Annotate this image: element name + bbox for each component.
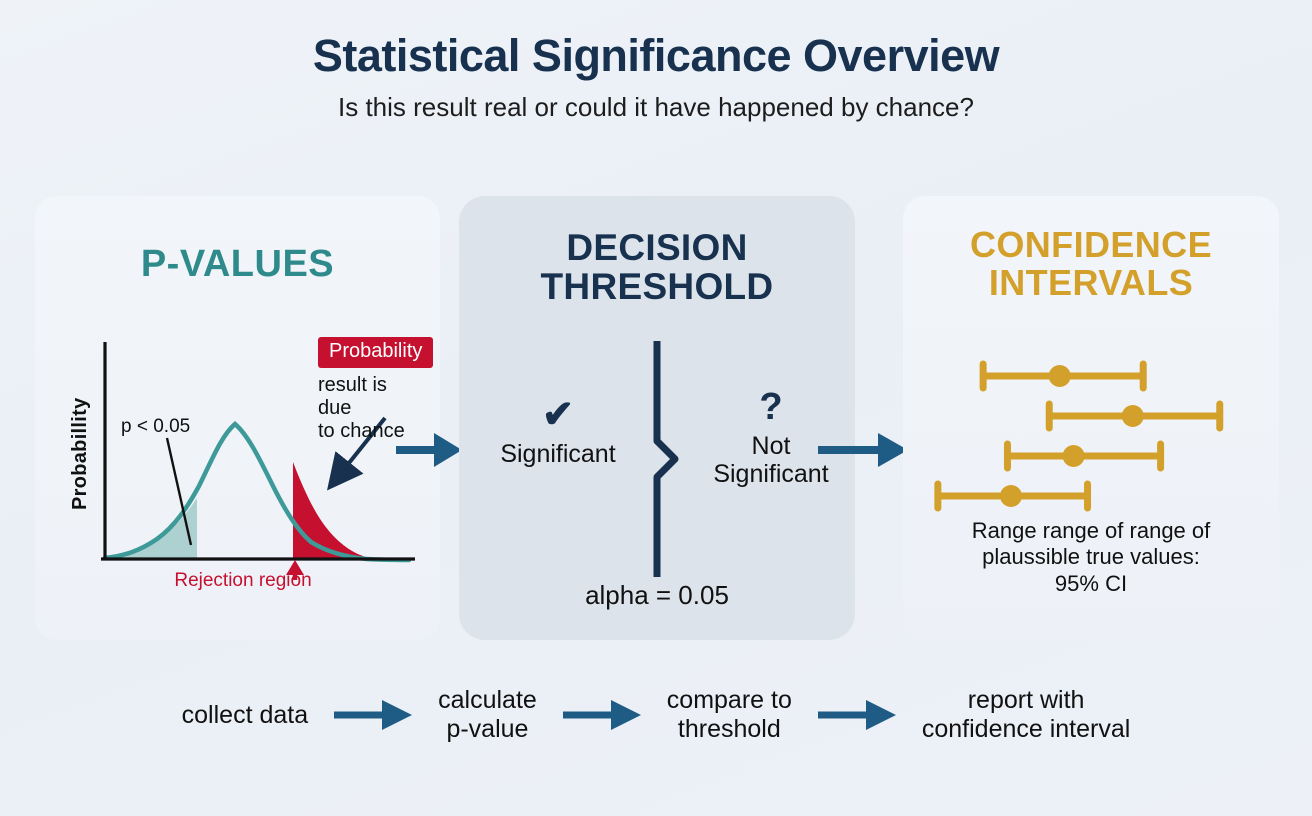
workflow-arrow-icon-1 — [334, 698, 412, 732]
panel-title-decision-threshold: DECISION THRESHOLD — [459, 228, 855, 306]
workflow-step-2: calculate p-value — [434, 686, 541, 744]
workflow-step-3: compare to threshold — [663, 686, 796, 744]
workflow-step-4: report with confidence interval — [918, 686, 1134, 744]
decision-branch-divider — [645, 341, 697, 577]
ci-point-estimate — [1000, 485, 1022, 507]
panel-title-p-values: P-VALUES — [35, 244, 440, 284]
workflow-arrow-icon-2 — [563, 698, 641, 732]
infographic-canvas: Statistical Significance Overview Is thi… — [0, 0, 1312, 816]
connector-arrow-center-to-right — [818, 428, 908, 477]
workflow-arrow-icon-3 — [818, 698, 896, 732]
confidence-interval-chart — [917, 356, 1265, 516]
panel-title-confidence-intervals: CONFIDENCE INTERVALS — [903, 226, 1279, 302]
question-mark-icon: ? — [691, 388, 851, 426]
workflow-step-1: collect data — [178, 701, 312, 730]
ci-point-estimate — [1122, 405, 1144, 427]
ci-bar-2 — [1049, 404, 1220, 428]
rejection-region-shade — [293, 462, 363, 558]
panel-p-values: P-VALUES Probabillity — [35, 196, 440, 640]
workflow-strip: collect data calculate p-value compare t… — [40, 660, 1272, 770]
header: Statistical Significance Overview Is thi… — [0, 32, 1312, 122]
ci-bar-1 — [983, 364, 1143, 388]
panel-confidence-intervals: CONFIDENCE INTERVALS Range range of rang… — [903, 196, 1279, 640]
p-value-threshold-label: p < 0.05 — [121, 416, 190, 438]
confidence-interval-caption: Range range of range of plaussible true … — [911, 518, 1271, 597]
connector-arrow-left-to-center — [396, 428, 462, 477]
ci-bars-svg — [917, 356, 1265, 516]
option-significant: ✔ Significant — [473, 396, 643, 468]
ci-point-estimate — [1063, 445, 1085, 467]
ci-bar-3 — [1007, 444, 1160, 468]
check-icon: ✔ — [473, 396, 643, 434]
ci-point-estimate — [1049, 365, 1071, 387]
ci-bar-4 — [938, 484, 1088, 508]
panel-decision-threshold: DECISION THRESHOLD ✔ Significant ? Not S… — [459, 196, 855, 640]
probability-badge: Probability — [318, 337, 433, 368]
page-title: Statistical Significance Overview — [0, 32, 1312, 79]
rejection-region-label: Rejection region — [63, 570, 423, 592]
page-subtitle: Is this result real or could it have hap… — [0, 93, 1312, 122]
p-value-distribution-chart: Probabillity — [63, 330, 423, 590]
alpha-value-label: alpha = 0.05 — [459, 580, 855, 611]
option-significant-label: Significant — [473, 440, 643, 468]
